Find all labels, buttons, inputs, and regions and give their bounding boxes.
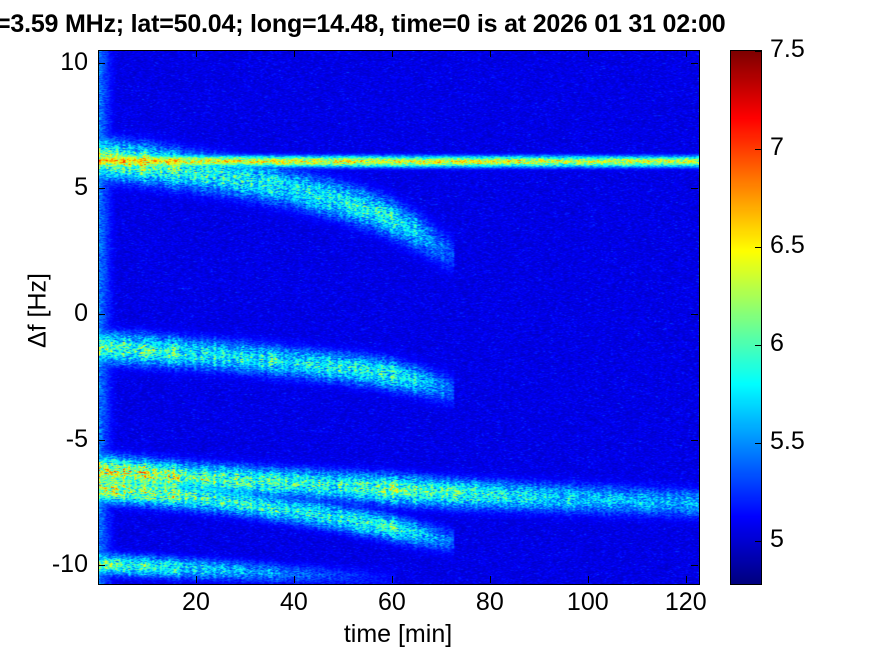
x-tick-mark <box>490 576 491 583</box>
y-tick-mark <box>98 440 105 441</box>
figure-canvas: =3.59 MHz; lat=50.04; long=14.48, time=0… <box>0 0 875 656</box>
y-tick-mark <box>691 440 698 441</box>
colorbar-tick-mark <box>755 443 761 444</box>
y-axis-label: Δf [Hz] <box>24 211 53 411</box>
x-tick-mark <box>196 576 197 583</box>
x-tick-label: 40 <box>249 588 339 616</box>
colorbar-tick-label: 5 <box>770 525 784 553</box>
x-tick-label: 60 <box>347 588 437 616</box>
y-tick-label: -5 <box>8 425 88 453</box>
y-tick-mark <box>691 188 698 189</box>
y-tick-mark <box>691 63 698 64</box>
y-tick-label: 5 <box>8 173 88 201</box>
colorbar-tick-label: 6 <box>770 329 784 357</box>
x-tick-label: 100 <box>543 588 633 616</box>
spectrogram-image <box>99 51 699 584</box>
colorbar-tick-label: 7.5 <box>770 35 805 63</box>
colorbar-tick-label: 5.5 <box>770 427 805 455</box>
x-tick-mark <box>686 50 687 57</box>
y-tick-mark <box>98 63 105 64</box>
x-tick-mark <box>392 576 393 583</box>
figure-title: =3.59 MHz; lat=50.04; long=14.48, time=0… <box>0 9 875 39</box>
x-axis-label: time [min] <box>98 620 698 649</box>
colorbar-gradient <box>731 51 761 584</box>
colorbar-tick-mark <box>755 345 761 346</box>
y-tick-mark <box>691 565 698 566</box>
x-tick-mark <box>294 576 295 583</box>
colorbar-tick-mark <box>755 149 761 150</box>
x-tick-label: 80 <box>445 588 535 616</box>
colorbar-tick-mark <box>755 247 761 248</box>
x-tick-mark <box>588 576 589 583</box>
x-tick-label: 120 <box>641 588 731 616</box>
y-tick-mark <box>98 314 105 315</box>
x-tick-label: 20 <box>151 588 241 616</box>
y-tick-mark <box>98 188 105 189</box>
x-tick-mark <box>588 50 589 57</box>
y-tick-mark <box>98 565 105 566</box>
x-tick-mark <box>686 576 687 583</box>
colorbar-tick-label: 6.5 <box>770 231 805 259</box>
y-tick-label: 10 <box>8 48 88 76</box>
colorbar <box>730 50 762 585</box>
x-tick-mark <box>196 50 197 57</box>
colorbar-tick-mark <box>755 51 761 52</box>
y-tick-mark <box>691 314 698 315</box>
x-tick-mark <box>490 50 491 57</box>
colorbar-tick-label: 7 <box>770 133 784 161</box>
x-tick-mark <box>392 50 393 57</box>
spectrogram-axes <box>98 50 700 585</box>
colorbar-tick-mark <box>755 541 761 542</box>
x-tick-mark <box>294 50 295 57</box>
y-tick-label: -10 <box>8 550 88 578</box>
